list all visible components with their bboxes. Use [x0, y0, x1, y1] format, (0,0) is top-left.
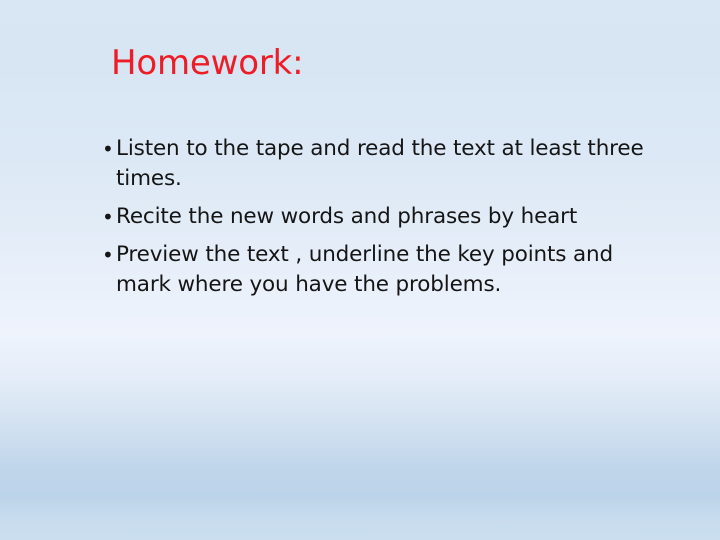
presentation-slide: Homework: • Listen to the tape and read …	[0, 0, 720, 540]
list-item-label: Preview the text , underline the key poi…	[116, 240, 670, 300]
list-item: • Recite the new words and phrases by he…	[100, 202, 670, 232]
bullet-point-icon: •	[102, 202, 114, 232]
list-item-label: Recite the new words and phrases by hear…	[116, 202, 670, 232]
bullet-list: • Listen to the tape and read the text a…	[100, 134, 670, 300]
bullet-point-icon: •	[102, 240, 114, 270]
list-item: • Listen to the tape and read the text a…	[100, 134, 670, 194]
list-item: • Preview the text , underline the key p…	[100, 240, 670, 300]
bullet-point-icon: •	[102, 134, 114, 164]
page-title: Homework:	[111, 42, 671, 84]
slide-title-block: Homework:	[111, 42, 671, 84]
list-item-label: Listen to the tape and read the text at …	[116, 134, 670, 194]
